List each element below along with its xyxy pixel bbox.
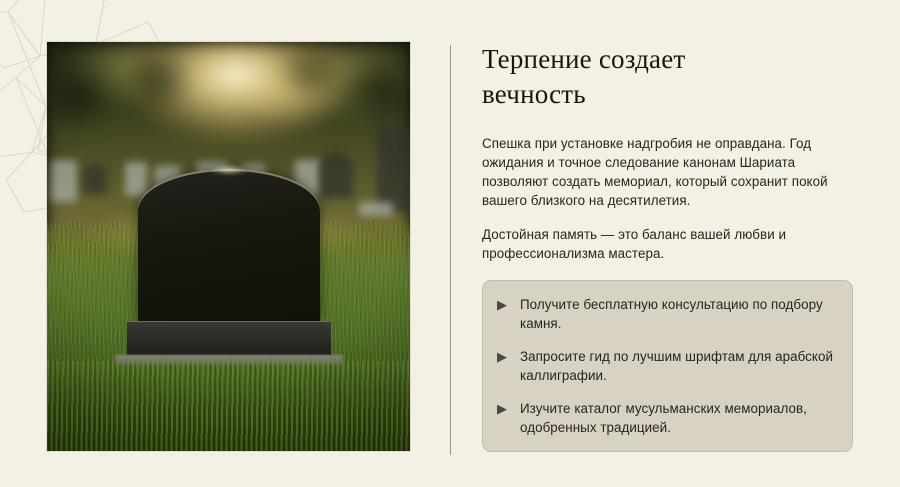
page-title: Терпение создает вечность [482, 42, 792, 112]
page-title-line-2: вечность [482, 79, 586, 109]
slide-root: Терпение создает вечность Спешка при уст… [0, 0, 900, 487]
list-item[interactable]: ▶ Запросите гид по лучшим шрифтам для ар… [497, 347, 836, 385]
memorial-photo [47, 42, 410, 451]
body-paragraph-1: Спешка при установке надгробия не оправд… [482, 134, 854, 210]
cta-item-label: Изучите каталог мусульманских мемориалов… [520, 399, 836, 437]
cta-card: ▶ Получите бесплатную консультацию по по… [482, 280, 853, 452]
photo-canvas [47, 42, 410, 451]
list-item[interactable]: ▶ Получите бесплатную консультацию по по… [497, 295, 836, 333]
photo-vignette [47, 42, 410, 451]
triangle-right-icon: ▶ [497, 350, 510, 363]
text-column: Терпение создает вечность Спешка при уст… [482, 42, 854, 282]
list-item[interactable]: ▶ Изучите каталог мусульманских мемориал… [497, 399, 836, 437]
page-title-line-1: Терпение создает [482, 44, 685, 74]
triangle-right-icon: ▶ [497, 298, 510, 311]
triangle-right-icon: ▶ [497, 402, 510, 415]
cta-item-label: Получите бесплатную консультацию по подб… [520, 295, 836, 333]
column-divider [450, 45, 451, 455]
body-paragraph-2: Достойная память — это баланс вашей любв… [482, 225, 854, 263]
cta-item-label: Запросите гид по лучшим шрифтам для араб… [520, 347, 836, 385]
